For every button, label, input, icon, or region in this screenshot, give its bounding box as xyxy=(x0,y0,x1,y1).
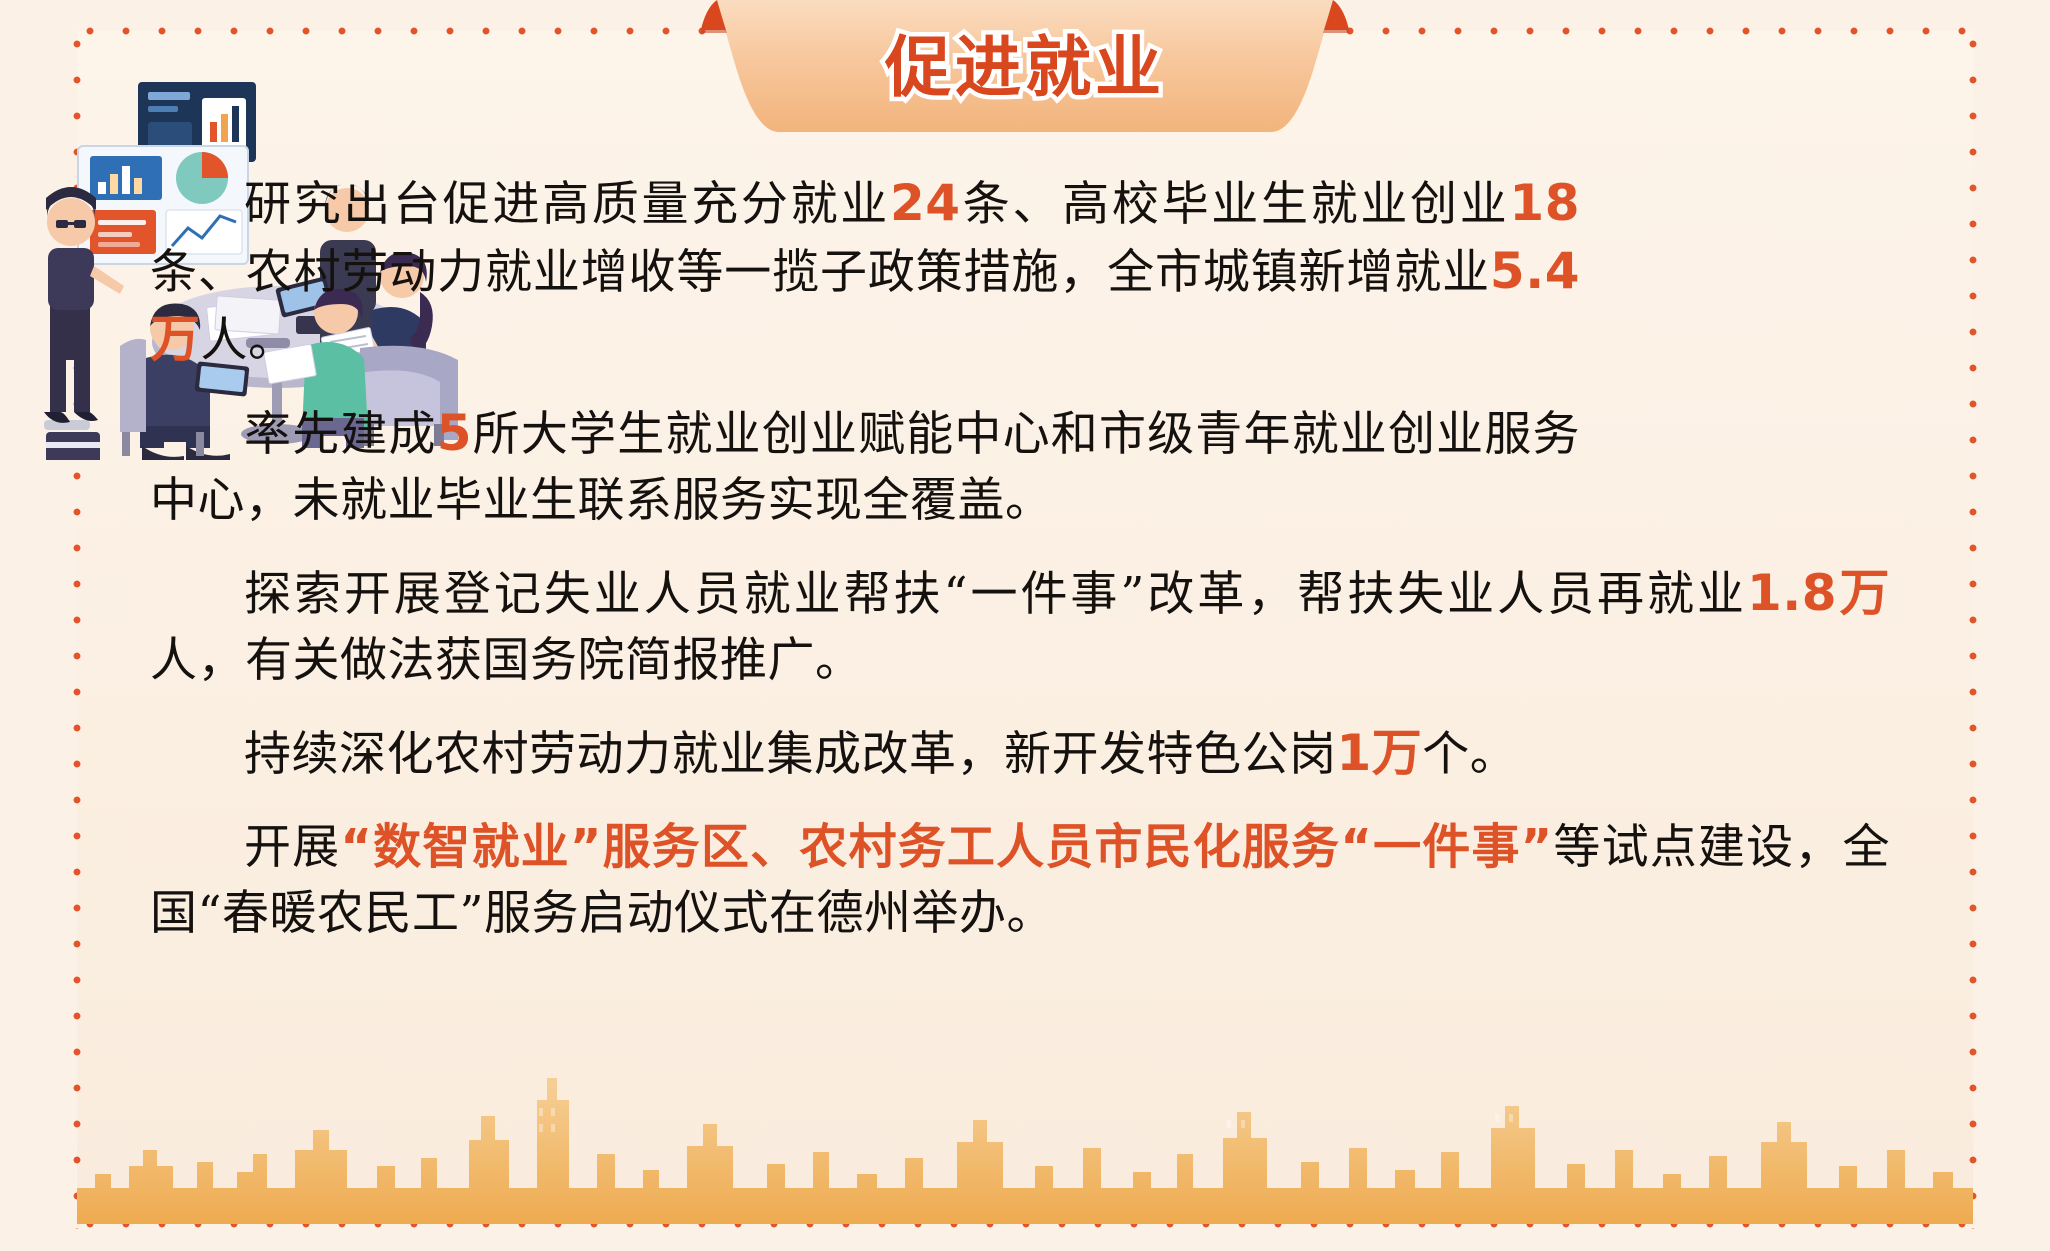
highlight-segment: 24 xyxy=(890,174,961,232)
highlight-segment: 1万 xyxy=(1337,724,1423,782)
title-banner: 促进就业 促进就业 xyxy=(695,0,1355,132)
paragraph-3: 探索开展登记失业人员就业帮扶“一件事”改革，帮扶失业人员再就业1.8万人，有关做… xyxy=(150,560,1890,694)
paragraph-2: 率先建成5所大学生就业创业赋能中心和市级青年就业创业服务中心，未就业毕业生联系服… xyxy=(150,400,1580,534)
page-title: 促进就业 xyxy=(695,14,1355,110)
paragraph-5: 开展“数智就业”服务区、农村务工人员市民化服务“一件事”等试点建设，全国“春暖农… xyxy=(150,814,1890,947)
highlight-segment: 18 xyxy=(1509,174,1580,232)
paragraph-4: 持续深化农村劳动力就业集成改革，新开发特色公岗1万个。 xyxy=(150,720,1890,788)
poster-root: 促进就业 促进就业 xyxy=(0,0,2050,1251)
highlight-segment: 1.8万 xyxy=(1747,564,1890,622)
highlight-segment: 5.4万 xyxy=(150,242,1580,368)
paragraph-1: 研究出台促进高质量充分就业24条、高校毕业生就业创业18条、农村劳动力就业增收等… xyxy=(150,170,1580,374)
city-skyline-decoration xyxy=(77,1054,1973,1224)
highlight-segment: “数智就业”服务区、农村务工人员市民化服务“一件事” xyxy=(340,819,1552,875)
dotted-border-right xyxy=(1968,26,1978,1229)
poster-body: 研究出台促进高质量充分就业24条、高校毕业生就业创业18条、农村劳动力就业增收等… xyxy=(150,170,1920,973)
highlight-segment: 5 xyxy=(437,404,472,462)
